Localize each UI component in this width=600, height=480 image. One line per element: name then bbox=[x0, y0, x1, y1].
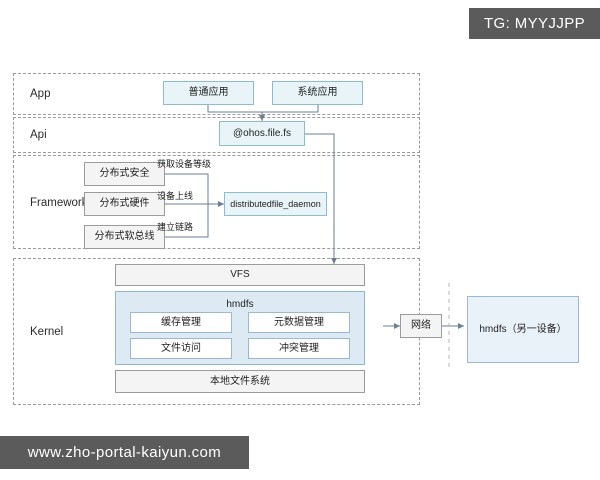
framework-module-distributed-hardware[interactable]: 分布式硬件 bbox=[84, 192, 165, 216]
framework-module-distributed-security-label: 分布式安全 bbox=[100, 168, 150, 180]
app-box-system-app-label: 系统应用 bbox=[298, 87, 338, 99]
hmdfs-submodule-conflict-management-label: 冲突管理 bbox=[279, 343, 319, 355]
watermark-site-badge: www.zho-portal-kaiyun.com bbox=[0, 436, 249, 469]
framework-module-distributed-security[interactable]: 分布式安全 bbox=[84, 162, 165, 186]
edge-label-device-online: 设备上线 bbox=[157, 192, 193, 201]
kernel-box-vfs[interactable]: VFS bbox=[115, 264, 365, 286]
api-box-ohos-file-fs-label: @ohos.file.fs bbox=[233, 128, 291, 140]
diagram-canvas: App Api Framework Kernel bbox=[0, 0, 600, 480]
layer-label-kernel: Kernel bbox=[30, 327, 63, 339]
edge-label-get-device-level: 获取设备等级 bbox=[157, 160, 211, 169]
watermark-site-text: www.zho-portal-kaiyun.com bbox=[28, 444, 221, 461]
edge-label-establish-link: 建立链路 bbox=[157, 223, 193, 232]
hmdfs-submodule-cache-management[interactable]: 缓存管理 bbox=[130, 312, 232, 333]
framework-box-distributedfile-daemon-label: distributedfile_daemon bbox=[230, 199, 321, 210]
external-box-remote-hmdfs[interactable]: hmdfs（另一设备） bbox=[467, 296, 579, 363]
api-box-ohos-file-fs[interactable]: @ohos.file.fs bbox=[219, 121, 305, 146]
watermark-tg-badge: TG: MYYJJPP bbox=[469, 8, 600, 39]
framework-module-distributed-softbus[interactable]: 分布式软总线 bbox=[84, 225, 165, 249]
layer-label-app: App bbox=[30, 89, 50, 101]
app-box-normal-app-label: 普通应用 bbox=[189, 87, 229, 99]
external-box-network[interactable]: 网络 bbox=[400, 314, 442, 338]
app-box-normal-app[interactable]: 普通应用 bbox=[163, 81, 254, 105]
hmdfs-submodule-metadata-management-label: 元数据管理 bbox=[274, 317, 324, 329]
hmdfs-submodule-cache-management-label: 缓存管理 bbox=[161, 317, 201, 329]
watermark-tg-text: TG: MYYJJPP bbox=[484, 15, 585, 32]
hmdfs-submodule-metadata-management[interactable]: 元数据管理 bbox=[248, 312, 350, 333]
framework-module-distributed-hardware-label: 分布式硬件 bbox=[100, 198, 150, 210]
external-box-network-label: 网络 bbox=[411, 320, 431, 332]
kernel-box-vfs-label: VFS bbox=[230, 269, 249, 281]
framework-box-distributedfile-daemon[interactable]: distributedfile_daemon bbox=[224, 192, 327, 216]
layer-label-framework: Framework bbox=[30, 198, 88, 210]
hmdfs-submodule-file-access-label: 文件访问 bbox=[161, 343, 201, 355]
layer-label-api: Api bbox=[30, 130, 47, 142]
framework-module-distributed-softbus-label: 分布式软总线 bbox=[95, 231, 155, 243]
kernel-box-local-filesystem-label: 本地文件系统 bbox=[210, 376, 270, 388]
external-box-remote-hmdfs-label: hmdfs（另一设备） bbox=[479, 324, 566, 336]
layer-api: Api bbox=[13, 117, 420, 153]
hmdfs-submodule-conflict-management[interactable]: 冲突管理 bbox=[248, 338, 350, 359]
hmdfs-submodule-file-access[interactable]: 文件访问 bbox=[130, 338, 232, 359]
kernel-box-local-filesystem[interactable]: 本地文件系统 bbox=[115, 370, 365, 393]
app-box-system-app[interactable]: 系统应用 bbox=[272, 81, 363, 105]
kernel-box-hmdfs-title: hmdfs bbox=[116, 299, 364, 311]
layer-framework: Framework bbox=[13, 155, 420, 249]
